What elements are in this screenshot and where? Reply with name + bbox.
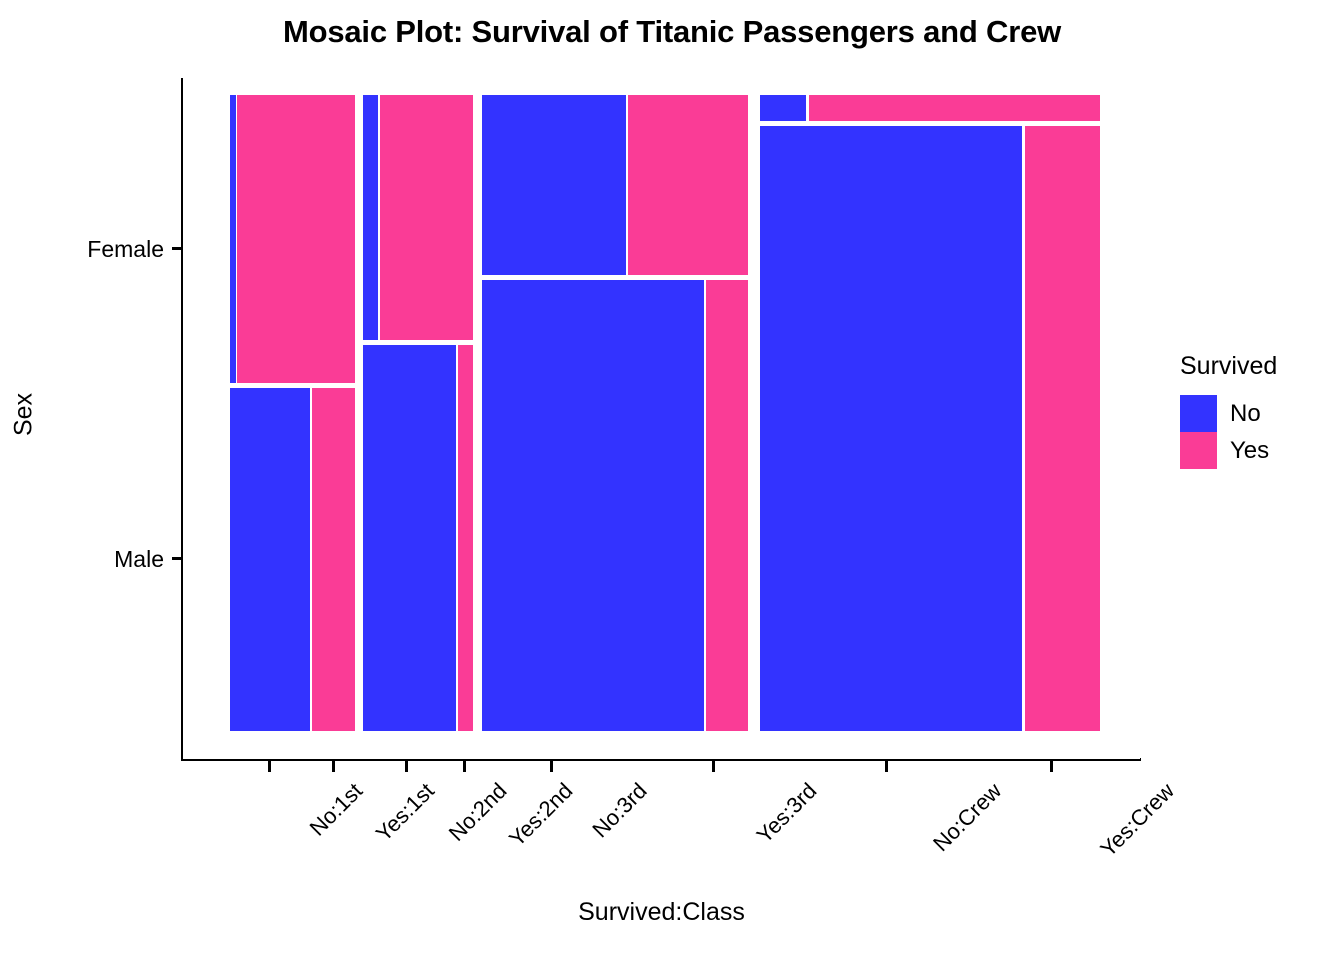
mosaic-tile[interactable]: [363, 345, 456, 731]
mosaic-tile[interactable]: [237, 95, 355, 383]
y-tick-label-male: Male: [4, 546, 164, 573]
mosaic-tile[interactable]: [482, 95, 626, 275]
y-axis-title: Sex: [10, 355, 39, 475]
legend-item-yes[interactable]: Yes: [1180, 432, 1277, 469]
x-tick-mark: [268, 761, 271, 772]
mosaic-tile[interactable]: [628, 95, 748, 275]
x-tick-mark: [405, 761, 408, 772]
mosaic-tile[interactable]: [1025, 126, 1100, 731]
x-tick-mark: [550, 761, 553, 772]
mosaic-tile[interactable]: [482, 280, 704, 731]
x-tick-label-yes-1st: Yes:1st: [371, 778, 440, 847]
x-tick-label-no-3rd: No:3rd: [587, 778, 652, 843]
legend-swatch-yes: [1180, 432, 1217, 469]
x-tick-label-no-1st: No:1st: [305, 778, 368, 841]
x-tick-label-yes-2nd: Yes:2nd: [504, 778, 578, 852]
x-tick-mark: [1050, 761, 1053, 772]
legend-label-yes: Yes: [1230, 437, 1269, 465]
x-tick-mark: [885, 761, 888, 772]
y-tick-mark: [172, 247, 183, 250]
mosaic-tile[interactable]: [706, 280, 748, 731]
x-tick-mark: [332, 761, 335, 772]
legend-label-no: No: [1230, 400, 1261, 428]
x-tick-mark: [712, 761, 715, 772]
mosaic-tile[interactable]: [230, 95, 236, 383]
x-tick-mark: [463, 761, 466, 772]
x-tick-label-no-2nd: No:2nd: [444, 778, 513, 847]
mosaic-tile[interactable]: [230, 388, 310, 731]
mosaic-tile[interactable]: [760, 95, 806, 121]
x-axis-title: Survived:Class: [183, 898, 1140, 927]
x-tick-label-yes-3rd: Yes:3rd: [752, 778, 823, 849]
mosaic-tile[interactable]: [312, 388, 355, 731]
page-title: Mosaic Plot: Survival of Titanic Passeng…: [0, 14, 1344, 50]
y-tick-label-female: Female: [4, 236, 164, 263]
legend-item-no[interactable]: No: [1180, 395, 1277, 432]
y-tick-mark: [172, 557, 183, 560]
mosaic-tile[interactable]: [363, 95, 378, 340]
legend-title: Survived: [1180, 352, 1277, 381]
legend-swatch-no: [1180, 395, 1217, 432]
mosaic-tile[interactable]: [760, 126, 1022, 731]
mosaic-tile[interactable]: [458, 345, 473, 731]
legend: Survived No Yes: [1180, 352, 1277, 469]
mosaic-plot-figure: Mosaic Plot: Survival of Titanic Passeng…: [0, 0, 1344, 960]
x-tick-label-no-crew: No:Crew: [928, 778, 1007, 857]
mosaic-tile[interactable]: [809, 95, 1100, 121]
x-tick-label-yes-crew: Yes:Crew: [1095, 778, 1179, 862]
mosaic-tile[interactable]: [380, 95, 473, 340]
